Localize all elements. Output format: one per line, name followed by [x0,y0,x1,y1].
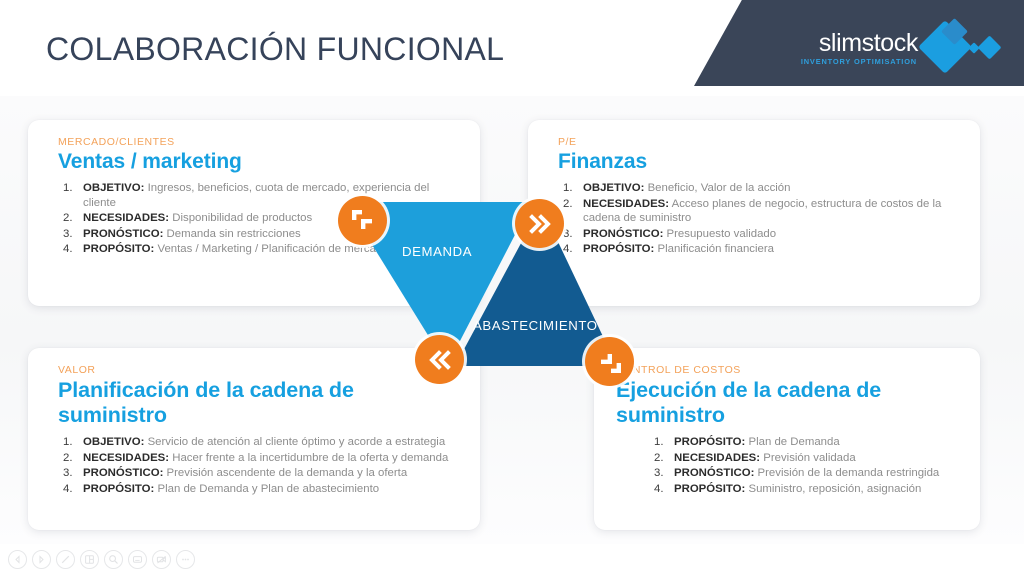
list-item-text: Plan de Demanda y Plan de abastecimiento [154,483,379,495]
card-title: Finanzas [558,150,960,174]
list-item-lead: NECESIDADES: [83,212,169,224]
list-item-lead: PRONÓSTICO: [674,467,754,479]
list-item-lead: PRONÓSTICO: [83,228,163,240]
list-item: PROPÓSITO: Plan de Demanda y Plan de aba… [58,482,460,497]
zoom-icon [108,554,119,565]
play-slide-button[interactable] [32,550,51,569]
presentation-controls-bar [8,550,195,569]
card-eyebrow: P/E [558,136,960,148]
list-item: NECESIDADES: Previsión validada [616,451,962,466]
list-item-text: Disponibilidad de productos [169,212,312,224]
play-slide-icon [37,555,46,564]
more-options-icon [180,554,191,565]
list-item-text: Previsión de la demanda restringida [754,467,939,479]
caption-button[interactable] [128,550,147,569]
logo-text-block: slimstock INVENTORY OPTIMISATION [801,31,918,65]
supply-label: ABASTECIMIENTO [473,318,598,333]
video-off-icon [156,554,167,565]
logo-tagline: INVENTORY OPTIMISATION [801,58,917,65]
list-item: PROPÓSITO: Suministro, reposición, asign… [616,482,962,497]
list-item-lead: NECESIDADES: [674,452,760,464]
card-ejecucion-cadena-suministro: CONTROL DE COSTOS Ejecución de la cadena… [594,348,980,530]
list-item-lead: PROPÓSITO: [674,483,745,495]
list-item-lead: OBJETIVO: [583,182,644,194]
chevron-double-right-icon [527,211,553,237]
pen-button[interactable] [56,550,75,569]
logo-diamond-marks [924,21,1010,75]
card-eyebrow: CONTROL DE COSTOS [616,364,962,376]
list-item-text: Plan de Demanda [745,436,839,448]
chevron-double-left-icon [427,347,453,373]
list-item-lead: OBJETIVO: [83,182,144,194]
list-item-text: Previsión validada [760,452,856,464]
previous-slide-icon [13,555,22,564]
badge-step-down-right[interactable] [338,196,387,245]
list-item-lead: OBJETIVO: [83,436,144,448]
more-options-button[interactable] [176,550,195,569]
list-item-text: Suministro, reposición, asignación [745,483,921,495]
card-eyebrow: MERCADO/CLIENTES [58,136,460,148]
list-item-text: Planificación financiera [654,243,774,255]
list-item-text: Demanda sin restricciones [163,228,300,240]
badge-step-up-left[interactable] [585,337,634,386]
card-content: CONTROL DE COSTOS Ejecución de la cadena… [594,348,980,496]
slide-grid-icon [84,554,95,565]
slimstock-logo: slimstock INVENTORY OPTIMISATION [801,21,1010,75]
list-item: NECESIDADES: Hacer frente a la incertidu… [58,451,460,466]
centre-triangle-graphic: DEMANDA ABASTECIMIENTO [355,196,620,372]
slide-grid-button[interactable] [80,550,99,569]
list-item: OBJETIVO: Servicio de atención al client… [58,435,460,450]
list-item-lead: PROPÓSITO: [83,243,154,255]
list-item-lead: PROPÓSITO: [674,436,745,448]
demand-label: DEMANDA [402,244,472,259]
badge-chevron-double-left[interactable] [415,335,464,384]
list-item-text: Previsión ascendente de la demanda y la … [163,467,407,479]
previous-slide-button[interactable] [8,550,27,569]
step-up-left-icon [597,349,623,375]
card-title: Ejecución de la cadena de suministro [616,378,962,428]
slide-root: slimstock INVENTORY OPTIMISATION COLABOR… [0,0,1024,576]
badge-chevron-double-right[interactable] [515,199,564,248]
logo-diamond-small-icon [977,35,1001,59]
triangle-shapes [355,196,620,372]
list-item-lead: PROPÓSITO: [83,483,154,495]
caption-icon [132,554,143,565]
card-title: Planificación de la cadena de suministro [58,378,460,428]
list-item: PRONÓSTICO: Previsión ascendente de la d… [58,466,460,481]
list-item-text: Presupuesto validado [663,228,776,240]
page-title: COLABORACIÓN FUNCIONAL [46,31,504,68]
logo-wordmark: slimstock [819,31,918,56]
video-off-button[interactable] [152,550,171,569]
list-item-lead: PRONÓSTICO: [83,467,163,479]
list-item-text: Beneficio, Valor de la acción [644,182,790,194]
list-item: OBJETIVO: Beneficio, Valor de la acción [558,181,960,196]
list-item: PROPÓSITO: Plan de Demanda [616,435,962,450]
list-item-lead: NECESIDADES: [83,452,169,464]
list-item-text: Servicio de atención al cliente óptimo y… [144,436,445,448]
step-down-right-icon [350,208,376,234]
pen-icon [60,554,71,565]
list-item-text: Hacer frente a la incertidumbre de la of… [169,452,448,464]
zoom-button[interactable] [104,550,123,569]
card-point-list: PROPÓSITO: Plan de DemandaNECESIDADES: P… [616,435,962,496]
card-title: Ventas / marketing [58,150,460,174]
card-point-list: OBJETIVO: Servicio de atención al client… [58,435,460,496]
card-planificacion-cadena-suministro: VALOR Planificación de la cadena de sumi… [28,348,480,530]
list-item: PRONÓSTICO: Previsión de la demanda rest… [616,466,962,481]
